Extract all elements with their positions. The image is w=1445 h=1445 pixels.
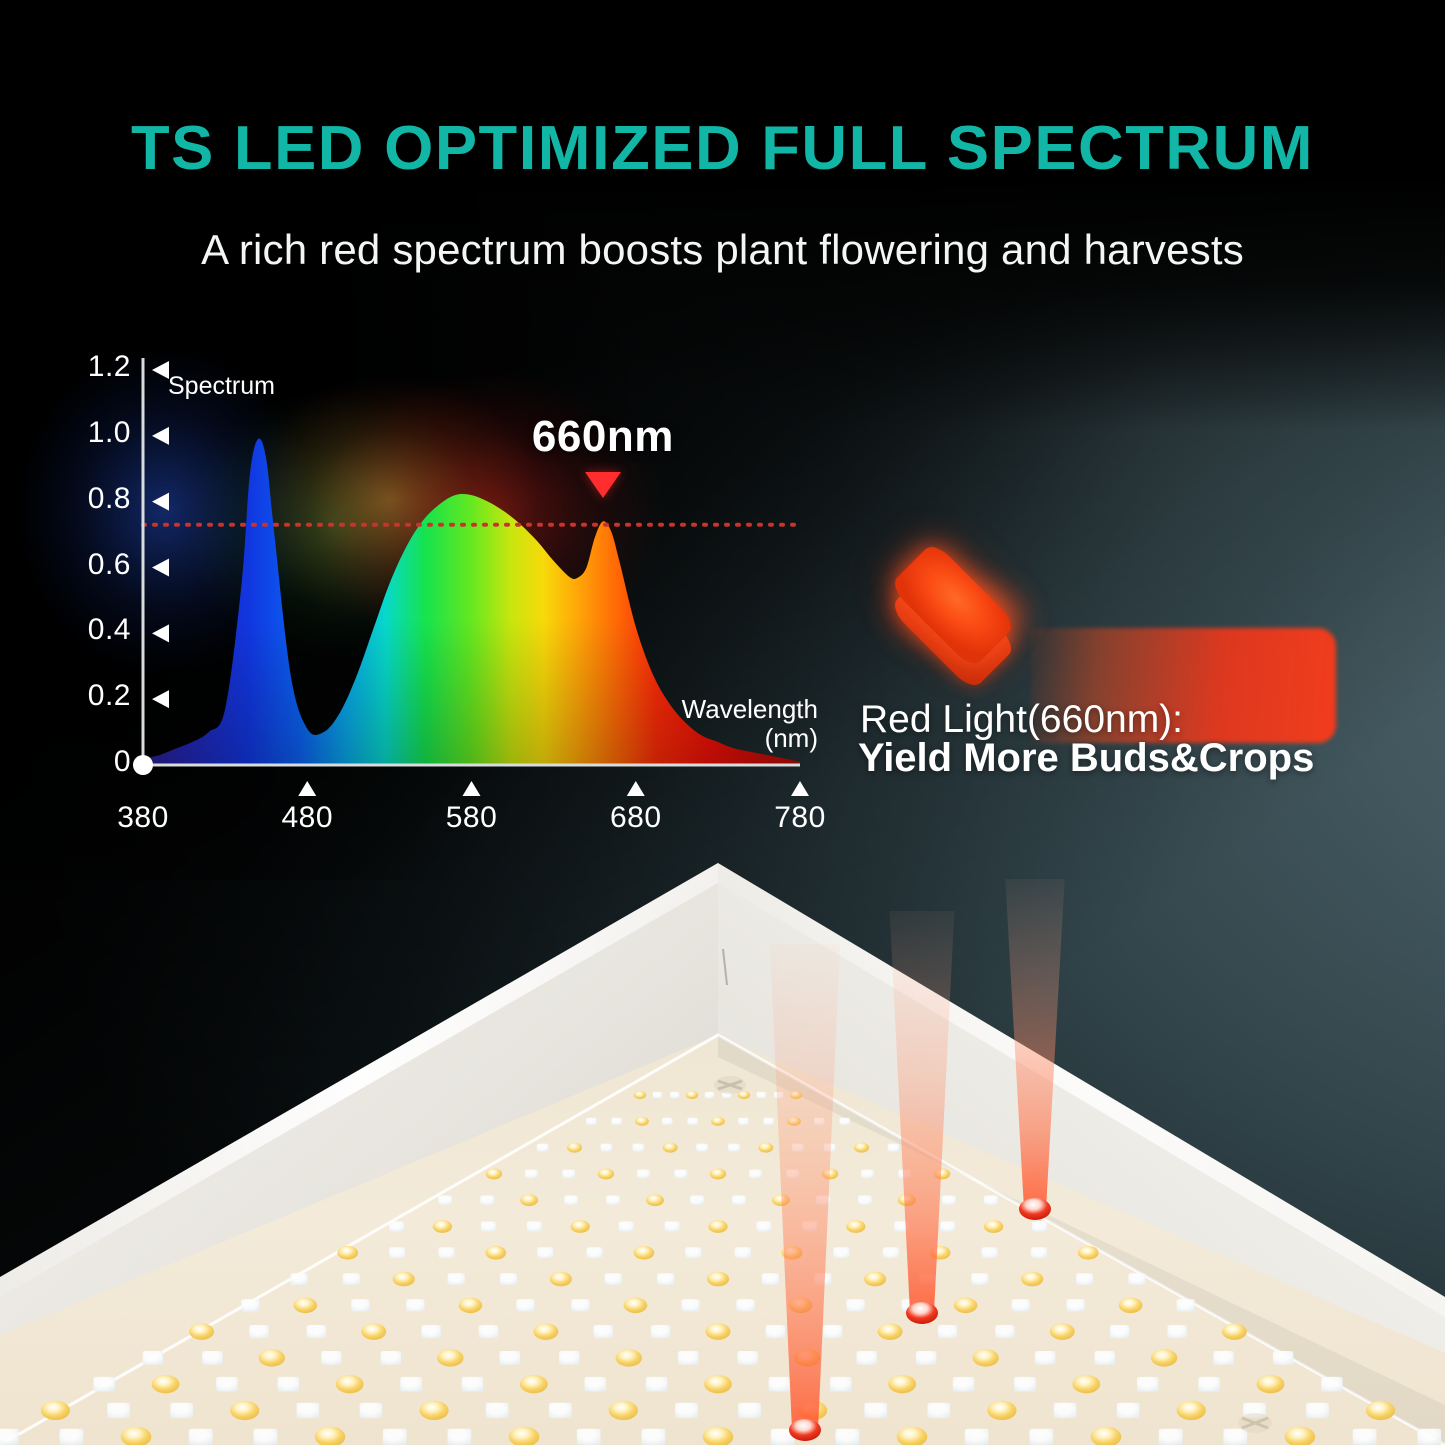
x-axis-tick-label: 680	[576, 801, 696, 835]
led-diode-cool	[646, 1377, 668, 1392]
led-diode-cool	[381, 1351, 401, 1365]
screw-icon-right	[1238, 1413, 1272, 1433]
led-diode-cool	[254, 1429, 278, 1445]
led-diode-warm	[706, 1323, 731, 1339]
led-diode-cool	[462, 1377, 484, 1392]
led-diode-cool	[107, 1403, 130, 1418]
led-diode-warm	[336, 1375, 364, 1393]
led-diode-cool	[290, 1273, 307, 1285]
led-diode-cool	[1321, 1377, 1343, 1392]
led-diode-cool	[480, 1195, 494, 1204]
led-diode-cool	[486, 1403, 509, 1418]
x-axis-label: Wavelength (nm)	[682, 695, 818, 753]
led-diode-cool	[833, 1247, 849, 1258]
led-grow-light-panel-photo	[0, 845, 1445, 1445]
y-axis-tick-marker	[152, 690, 169, 708]
led-diode-warm	[973, 1349, 999, 1366]
led-diode-warm	[846, 1220, 865, 1233]
led-diode-warm	[598, 1168, 614, 1179]
screw-icon-top	[714, 1076, 746, 1094]
led-diode-cool	[1167, 1325, 1186, 1338]
x-axis-tick-marker	[298, 781, 316, 796]
led-diode-warm	[533, 1323, 558, 1339]
led-diode-cool	[527, 1221, 542, 1231]
led-diode-cool	[681, 1299, 699, 1311]
led-diode-cool	[360, 1403, 383, 1418]
x-axis-tick-label: 580	[412, 801, 532, 835]
y-axis-tick-label: 0.4	[60, 613, 131, 647]
led-diode-cool	[1054, 1403, 1077, 1418]
led-diode-cool	[1128, 1273, 1145, 1285]
led-diode-warm	[704, 1375, 732, 1393]
x-axis-tick-marker	[627, 781, 645, 796]
led-diode-cool	[343, 1273, 360, 1285]
led-diode-cool	[665, 1221, 680, 1231]
led-diode-cool	[447, 1429, 471, 1445]
led-diode-cool	[1014, 1377, 1036, 1392]
led-diode-cool	[678, 1351, 698, 1365]
led-diode-cool	[601, 1144, 613, 1152]
led-diode-cool	[984, 1195, 998, 1204]
led-diode-cool	[830, 1377, 852, 1392]
led-diode-cool	[564, 1195, 578, 1204]
led-diode-cool	[738, 1351, 758, 1365]
led-diode-warm	[571, 1220, 590, 1233]
led-diode-cool	[861, 1170, 874, 1179]
led-diode-warm	[634, 1091, 646, 1099]
led-diode-cool	[738, 1403, 761, 1418]
led-diode-warm	[567, 1143, 582, 1153]
led-diode-cool	[189, 1429, 213, 1445]
led-diode-cool	[823, 1325, 842, 1338]
led-diode-cool	[577, 1429, 601, 1445]
led-diode-warm	[419, 1401, 448, 1420]
poster-stage: TS LED OPTIMIZED FULL SPECTRUM A rich re…	[0, 0, 1445, 1445]
led-diode-warm	[437, 1349, 463, 1366]
led-diode-cool	[587, 1247, 603, 1258]
led-diode-cool	[389, 1221, 404, 1231]
led-diode-cool	[653, 1092, 662, 1098]
page-title: TS LED OPTIMIZED FULL SPECTRUM	[0, 113, 1445, 184]
led-diode-cool	[839, 1118, 850, 1125]
led-diode-cool	[278, 1377, 300, 1392]
led-diode-warm	[854, 1143, 869, 1153]
y-axis-tick-label: 1.2	[60, 350, 131, 384]
led-diode-warm	[635, 1117, 649, 1126]
led-diode-cool	[738, 1118, 749, 1125]
led-diode-cool	[1223, 1429, 1247, 1445]
y-axis-tick-label: 0.6	[60, 548, 131, 582]
red-light-callout: Red Light(660nm): Yield More Buds&Crops	[836, 548, 1396, 808]
led-diode-warm	[609, 1401, 638, 1420]
led-diode-warm	[708, 1220, 727, 1233]
led-diode-cool	[93, 1377, 115, 1392]
led-diode-warm	[433, 1220, 452, 1233]
led-diode-warm	[152, 1375, 180, 1393]
led-diode-warm	[987, 1401, 1016, 1420]
led-diode-cool	[1306, 1403, 1329, 1418]
led-diode-cool	[1177, 1299, 1195, 1311]
led-diode-cool	[735, 1247, 751, 1258]
led-diode-cool	[1067, 1299, 1085, 1311]
led-diode-cool	[662, 1118, 673, 1125]
y-axis-label: Spectrum	[168, 372, 275, 401]
led-diode-cool	[858, 1195, 872, 1204]
led-diode-cool	[389, 1247, 405, 1258]
led-diode-warm	[663, 1143, 678, 1153]
led-diode-warm	[230, 1401, 259, 1420]
led-diode-cool	[0, 1429, 19, 1445]
led-diode-cool	[928, 1403, 951, 1418]
led-diode-warm	[686, 1091, 698, 1099]
red-led-diode	[906, 1302, 938, 1324]
led-diode-cool	[864, 1403, 887, 1418]
led-diode-warm	[984, 1220, 1003, 1233]
led-diode-warm	[711, 1117, 725, 1126]
led-diode-cool	[675, 1403, 698, 1418]
led-diode-warm	[1078, 1246, 1099, 1260]
led-diode-cool	[883, 1247, 899, 1258]
led-diode-warm	[888, 1375, 916, 1393]
led-diode-cool	[421, 1325, 440, 1338]
led-diode-cool	[971, 1273, 988, 1285]
led-diode-cool	[1273, 1351, 1293, 1365]
led-diode-cool	[942, 1195, 956, 1204]
led-diode-warm	[294, 1298, 318, 1314]
led-diode-cool	[479, 1325, 498, 1338]
led-diode-cool	[584, 1377, 606, 1392]
x-axis-label-unit: (nm)	[765, 723, 818, 753]
led-diode-cool	[606, 1195, 620, 1204]
led-diode-cool	[1035, 1351, 1055, 1365]
led-diode-cool	[705, 1092, 714, 1098]
peak-annotation-arrow-icon	[585, 472, 621, 498]
led-diode-cool	[736, 1299, 754, 1311]
led-diode-cool	[1353, 1429, 1377, 1445]
led-diode-warm	[954, 1298, 978, 1314]
led-diode-cool	[383, 1429, 407, 1445]
led-diode-cool	[857, 1351, 877, 1365]
led-diode-cool	[500, 1351, 520, 1365]
led-diode-cool	[537, 1144, 549, 1152]
led-diode-warm	[710, 1168, 726, 1179]
led-diode-cool	[1012, 1299, 1030, 1311]
led-diode-cool	[594, 1325, 613, 1338]
led-diode-warm	[550, 1272, 572, 1287]
led-diode-cool	[687, 1118, 698, 1125]
led-diode-warm	[1072, 1375, 1100, 1393]
led-diode-cool	[605, 1273, 622, 1285]
x-axis-tick-label: 380	[83, 801, 203, 835]
led-diode-cool	[732, 1195, 746, 1204]
red-led-diode	[1019, 1198, 1051, 1220]
led-diode-cool	[728, 1144, 740, 1152]
led-diode-cool	[1032, 1221, 1047, 1231]
led-diode-cool	[762, 1273, 779, 1285]
led-diode-warm	[758, 1143, 773, 1153]
led-diode-cool	[400, 1377, 422, 1392]
led-diode-cool	[143, 1351, 163, 1365]
led-diode-cool	[438, 1247, 454, 1258]
led-diode-warm	[337, 1246, 358, 1260]
led-diode-cool	[1198, 1377, 1220, 1392]
led-diode-warm	[634, 1246, 655, 1260]
led-diode-warm	[520, 1375, 548, 1393]
led-diode-cool	[216, 1377, 238, 1392]
y-axis-tick-label: 0.8	[60, 482, 131, 516]
led-diode-warm	[624, 1298, 648, 1314]
led-diode-cool	[438, 1195, 452, 1204]
led-diode-cool	[637, 1170, 650, 1179]
led-diode-warm	[361, 1323, 386, 1339]
led-diode-cool	[321, 1351, 341, 1365]
led-diode-cool	[632, 1144, 644, 1152]
led-diode-cool	[940, 1221, 955, 1231]
led-diode-warm	[41, 1401, 70, 1420]
led-diode-warm	[1151, 1349, 1177, 1366]
y-axis-tick-label: 0.2	[60, 679, 131, 713]
led-diode-cool	[766, 1325, 785, 1338]
led-diode-cool	[1076, 1273, 1093, 1285]
led-diode-warm	[486, 1168, 502, 1179]
led-diode-cool	[965, 1429, 989, 1445]
led-diode-cool	[690, 1195, 704, 1204]
led-diode-cool	[297, 1403, 320, 1418]
x-axis-tick-label: 480	[247, 801, 367, 835]
led-diode-cool	[685, 1247, 701, 1258]
led-diode-warm	[707, 1272, 729, 1287]
led-diode-cool	[537, 1247, 553, 1258]
led-diode-warm	[864, 1272, 886, 1287]
led-diode-warm	[1119, 1298, 1143, 1314]
led-diode-warm	[646, 1194, 664, 1206]
y-axis-tick-label: 0	[60, 745, 131, 779]
led-diode-cool	[1213, 1351, 1233, 1365]
led-diode-warm	[616, 1349, 642, 1366]
x-axis-ticks	[298, 781, 809, 796]
page-subtitle: A rich red spectrum boosts plant floweri…	[0, 226, 1445, 274]
led-diode-warm	[1050, 1323, 1075, 1339]
led-diode-cool	[619, 1221, 634, 1231]
led-diode-warm	[878, 1323, 903, 1339]
led-diode-cool	[448, 1273, 465, 1285]
led-diode-warm	[520, 1194, 538, 1206]
led-diode-cool	[763, 1118, 774, 1125]
led-diode-cool	[249, 1325, 268, 1338]
led-diode-cool	[1031, 1247, 1047, 1258]
origin-dot	[133, 755, 153, 775]
led-diode-cool	[769, 1377, 791, 1392]
peak-annotation-label: 660nm	[483, 412, 723, 462]
led-diode-cool	[651, 1325, 670, 1338]
led-diode-cool	[749, 1170, 762, 1179]
led-diode-warm	[189, 1323, 214, 1339]
led-diode-cool	[674, 1170, 687, 1179]
led-diode-cool	[516, 1299, 534, 1311]
led-diode-cool	[1094, 1351, 1114, 1365]
led-diode-cool	[241, 1299, 259, 1311]
led-diode-cool	[481, 1221, 496, 1231]
led-diode-warm	[1177, 1401, 1206, 1420]
callout-line-2: Yield More Buds&Crops	[858, 736, 1314, 781]
led-diode-cool	[571, 1299, 589, 1311]
led-diode-cool	[757, 1092, 766, 1098]
led-diode-cool	[696, 1144, 708, 1152]
led-diode-warm	[1366, 1401, 1395, 1420]
led-diode-cool	[1110, 1325, 1129, 1338]
led-diode-cool	[657, 1273, 674, 1285]
led-diode-cool	[1029, 1429, 1053, 1445]
led-diode-cool	[500, 1273, 517, 1285]
led-diode-cool	[611, 1118, 622, 1125]
x-axis-label-text: Wavelength	[682, 694, 818, 724]
led-diode-cool	[888, 1144, 900, 1152]
led-diode-warm	[393, 1272, 415, 1287]
led-diode-warm	[459, 1298, 483, 1314]
led-diode-cool	[170, 1403, 193, 1418]
led-diode-cool	[670, 1092, 679, 1098]
led-diode-cool	[916, 1351, 936, 1365]
led-diode-warm	[1257, 1375, 1285, 1393]
led-diode-cool	[1159, 1429, 1183, 1445]
led-diode-cool	[559, 1351, 579, 1365]
led-diode-warm	[1021, 1272, 1043, 1287]
led-diode-warm	[259, 1349, 285, 1366]
led-diode-cool	[307, 1325, 326, 1338]
led-diode-cool	[641, 1429, 665, 1445]
led-diode-cool	[981, 1247, 997, 1258]
x-axis-tick-marker	[463, 781, 481, 796]
led-diode-cool	[1417, 1429, 1441, 1445]
led-diode-cool	[549, 1403, 572, 1418]
led-diode-cool	[586, 1118, 597, 1125]
led-diode-cool	[60, 1429, 84, 1445]
led-diode-cool	[835, 1429, 859, 1445]
led-diode-warm	[738, 1091, 750, 1099]
led-diode-warm	[1222, 1323, 1247, 1339]
led-diode-cool	[756, 1221, 771, 1231]
spectrum-chart: Spectrum Wavelength (nm) 660nm 00.20.40.…	[60, 350, 800, 830]
led-diode-cool	[995, 1325, 1014, 1338]
led-diode-cool	[938, 1325, 957, 1338]
y-axis-tick-label: 1.0	[60, 416, 131, 450]
led-chip-icon	[842, 548, 1072, 688]
led-diode-cool	[1137, 1377, 1159, 1392]
led-diode-cool	[202, 1351, 222, 1365]
led-diode-cool	[1117, 1403, 1140, 1418]
red-led-diode	[789, 1419, 821, 1441]
led-diode-cool	[406, 1299, 424, 1311]
led-diode-cool	[351, 1299, 369, 1311]
led-diode-warm	[485, 1246, 506, 1260]
led-diode-cool	[953, 1377, 975, 1392]
led-diode-cool	[525, 1170, 538, 1179]
led-diode-cool	[846, 1299, 864, 1311]
led-diode-cool	[562, 1170, 575, 1179]
